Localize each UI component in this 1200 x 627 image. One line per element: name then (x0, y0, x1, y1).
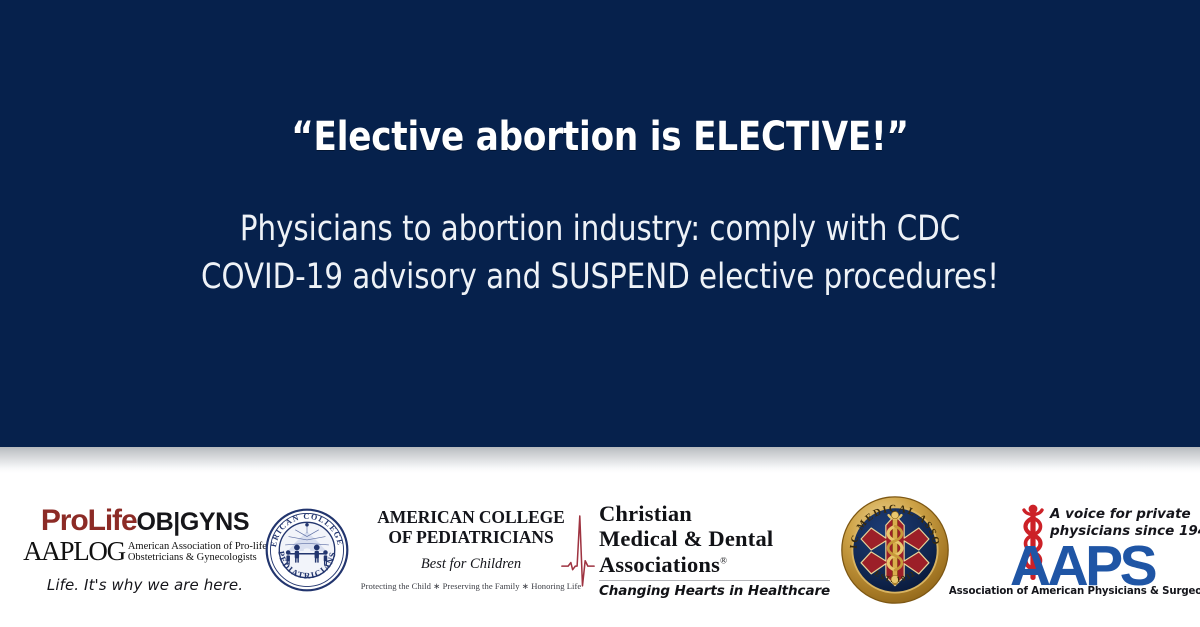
cmda-line-3-text: Associations (599, 552, 720, 577)
cmda-text-block: Christian Medical & Dental Associations®… (599, 501, 830, 600)
aaplog-acronym-row: AAPLOG American Association of Pro-life … (23, 538, 267, 565)
page-subtitle: Physicians to abortion industry: comply … (201, 205, 999, 302)
acpeds-motto: Best for Children (361, 556, 582, 573)
acpeds-text-block: AMERICAN COLLEGE OF PEDIATRICIANS Best f… (361, 508, 582, 592)
aaplog-wordmark: ProLife OB|GYNS (41, 506, 249, 536)
cmda-line-2: Medical & Dental (599, 526, 830, 552)
logo-aaplog: ProLife OB|GYNS AAPLOG American Associat… (29, 506, 261, 594)
aaplog-expansion-line-1: American Association of Pro-life (128, 541, 267, 552)
page-subtitle-line-2: COVID-19 advisory and SUSPEND elective p… (201, 253, 999, 301)
aaps-top-row: A voice for private physicians since 194… (982, 504, 1182, 584)
cmda-registered-mark: ® (720, 555, 727, 565)
logo-christian-medical-dental-associations: Christian Medical & Dental Associations®… (581, 501, 809, 600)
aaps-voice-line-1: A voice for private (1050, 506, 1191, 522)
acpeds-name: AMERICAN COLLEGE OF PEDIATRICIANS (361, 508, 582, 547)
logo-aaps: A voice for private physicians since 194… (977, 504, 1187, 597)
cmda-line-3: Associations® (599, 552, 830, 578)
aaplog-tagline: Life. It's why we are here. (47, 576, 243, 594)
aaplog-expansion-line-2: Obstetricians & Gynecologists (128, 552, 257, 563)
aaplog-obgyns-text: OB|GYNS (137, 510, 250, 535)
acpeds-seal-icon: AMERICAN COLLEGE OF PEDIATRICIANS (265, 508, 349, 592)
cmda-ekg-icon (560, 507, 596, 593)
aaplog-prolife-text: ProLife (41, 506, 137, 536)
aaplog-acronym: AAPLOG (23, 538, 125, 565)
cmda-tagline: Changing Hearts in Healthcare (599, 583, 830, 599)
cma-seal-icon: CATHOLIC MEDICAL ASSOCIATION EST. 1932 (840, 495, 950, 605)
acpeds-name-line-1: AMERICAN COLLEGE (361, 508, 582, 528)
cmda-divider (599, 580, 830, 581)
logo-catholic-medical-association: CATHOLIC MEDICAL ASSOCIATION EST. 1932 (833, 495, 957, 605)
acpeds-name-line-2: OF PEDIATRICIANS (361, 528, 582, 548)
page-subtitle-line-1: Physicians to abortion industry: comply … (201, 205, 999, 253)
social-share-card: “Elective abortion is ELECTIVE!” Physici… (0, 0, 1200, 627)
aaps-acronym: AAPS (982, 538, 1182, 595)
acpeds-tagline: Protecting the Child ∗ Preserving the Fa… (361, 581, 582, 592)
partner-logo-strip: ProLife OB|GYNS AAPLOG American Associat… (0, 473, 1200, 627)
logo-american-college-of-pediatricians: AMERICAN COLLEGE OF PEDIATRICIANS AMERIC… (283, 508, 563, 592)
gradient-divider (0, 447, 1200, 473)
aaplog-expansion: American Association of Pro-life Obstetr… (128, 541, 267, 566)
hero-panel: “Elective abortion is ELECTIVE!” Physici… (0, 0, 1200, 447)
page-title: “Elective abortion is ELECTIVE!” (291, 116, 908, 159)
cmda-line-1: Christian (599, 501, 830, 527)
hero-content: “Elective abortion is ELECTIVE!” Physici… (0, 0, 1200, 447)
